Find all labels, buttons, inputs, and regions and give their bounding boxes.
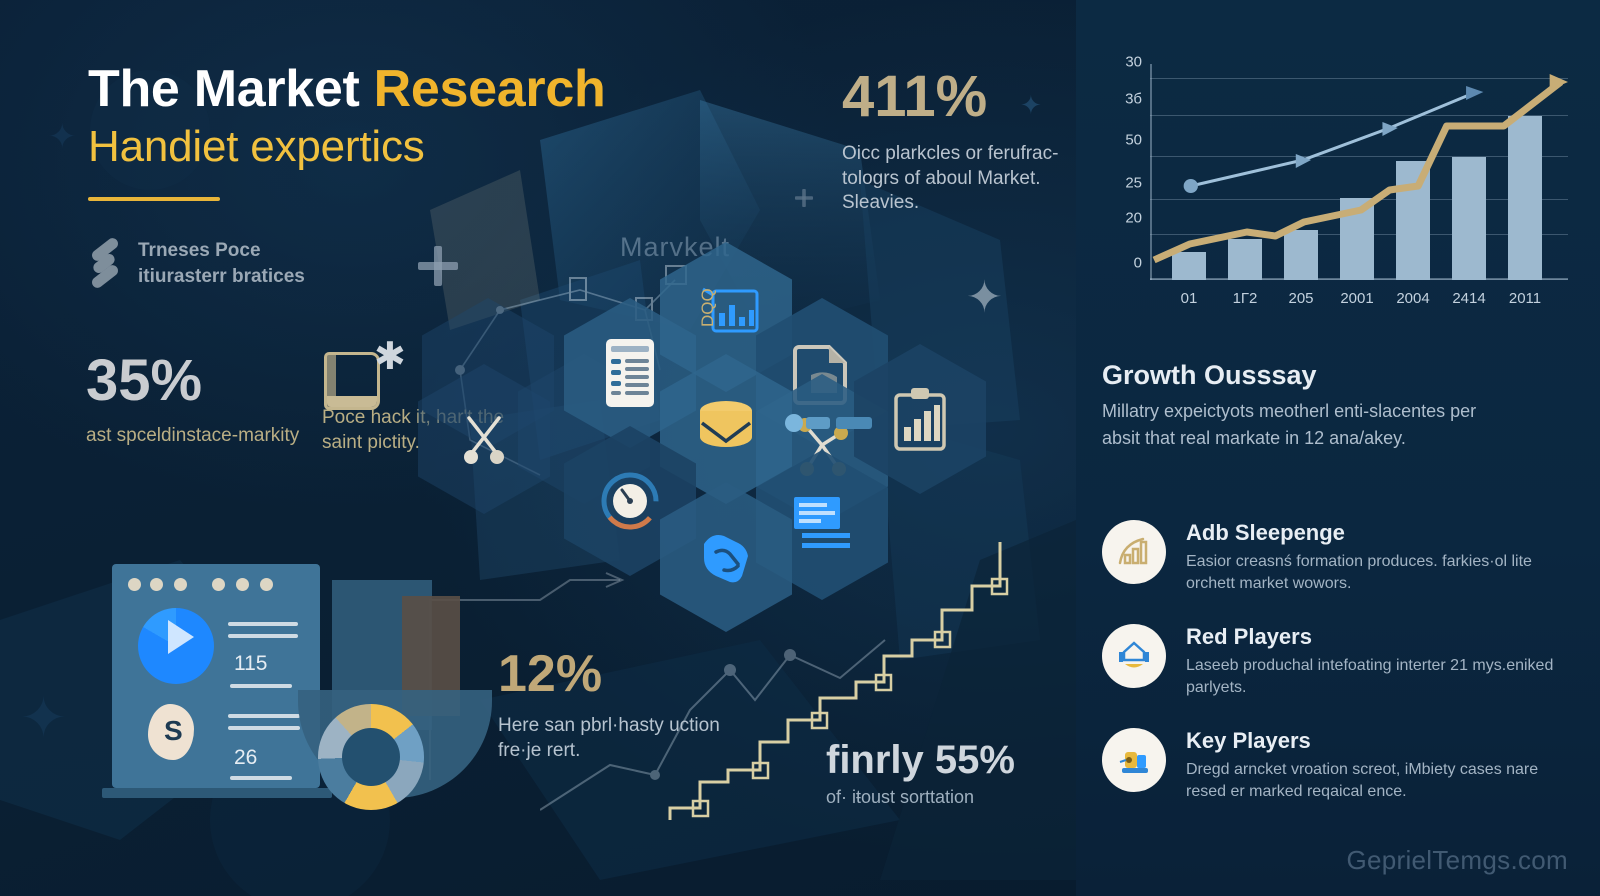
section-title: Growth Ousssay	[1102, 360, 1317, 391]
dashboard-donut-chart	[318, 704, 424, 810]
chart-y-label: 30	[1125, 54, 1142, 71]
chart-x-label: 1Г2	[1233, 290, 1258, 307]
handshake-icon	[694, 526, 758, 588]
stat-block-35: 35% ast spceldinstace-markity	[86, 352, 336, 449]
dashboard-dot	[150, 578, 163, 591]
star-icon: ✦	[20, 690, 67, 746]
stat-block-55: finrly 55% of· iŧoust sorttation	[826, 740, 1076, 809]
page-title-accent: Research	[374, 60, 606, 118]
chart-y-label: 25	[1125, 175, 1142, 192]
database-icon	[692, 397, 760, 461]
chart-plot-area: 0 20 25 50 3б 30	[1150, 64, 1568, 280]
list-item[interactable]: Key Players Dregd arncket vroation screo…	[1102, 728, 1572, 804]
stat-value: 12%	[498, 648, 728, 700]
list-item-body: Laseeb produchal intefoating interter 21…	[1186, 655, 1572, 700]
list-item-title: Red Players	[1186, 624, 1572, 650]
brand-label: Trneses Poce itiurasterr bratices	[138, 238, 305, 289]
play-triangle-icon	[168, 620, 194, 654]
dashboard-card: 115 26 S	[112, 564, 320, 788]
dashboard-blob-letter: S	[164, 715, 183, 747]
dashboard-dot	[236, 578, 249, 591]
stat-block-411: 411% Oicc plarkcles or ferufrac- tologrs…	[842, 68, 1102, 216]
title-divider	[88, 197, 220, 201]
dashboard-shelf	[102, 788, 332, 798]
list-item-title: Key Players	[1186, 728, 1572, 754]
chart-y-label: 0	[1134, 255, 1142, 272]
brand-row: Trneses Poce itiurasterr bratices	[88, 238, 305, 289]
list-item-text: Key Players Dregd arncket vroation screo…	[1186, 728, 1572, 804]
presentation-chart-icon: DQQ	[691, 285, 761, 349]
list-item-text: Adb Sleepenge Easior creasnś formation p…	[1186, 520, 1572, 596]
stat-caption: ast spceldinstace-markity	[86, 424, 336, 449]
dashboard-illustration: 115 26 S	[112, 556, 432, 806]
feature-list: Adb Sleepenge Easior creasnś formation p…	[1102, 520, 1572, 831]
infographic-canvas: ✦ ✦ ✦ ✦ The	[0, 0, 1600, 896]
dashboard-line	[228, 726, 300, 730]
chart-x-label: 205	[1288, 290, 1313, 307]
chart-x-label: 2001	[1340, 290, 1373, 307]
dashboard-line	[228, 634, 298, 638]
balance-scale-icon	[1102, 624, 1166, 688]
stat-value: finrly 55%	[826, 740, 1076, 780]
stat-caption: Oicc plarkcles or ferufrac- tologrs of a…	[842, 142, 1102, 216]
briefcase-target-icon	[1102, 728, 1166, 792]
site-watermark: GeprielTemgs.com	[1346, 845, 1568, 876]
list-item[interactable]: Adb Sleepenge Easior creasnś formation p…	[1102, 520, 1572, 596]
stat-block-12: 12% Here san pbrl·hasty uction fre·je re…	[498, 648, 728, 763]
dashboard-dot	[260, 578, 273, 591]
dashboard-value-bottom: 26	[234, 746, 257, 770]
headline-block: The Market Research Handiet expertics	[88, 62, 808, 201]
chart-x-label: 2011	[1509, 290, 1541, 307]
chart-x-label: 01	[1181, 290, 1198, 307]
list-item[interactable]: Red Players Laseeb produchal intefoating…	[1102, 624, 1572, 700]
hex-cluster: DQQ	[498, 236, 1018, 636]
stat-value: 411%	[842, 68, 1102, 126]
chart-y-label: 3б	[1125, 90, 1142, 107]
page-title-plain: The Market	[88, 60, 374, 118]
page-title: The Market Research	[88, 62, 808, 117]
stat-caption: Here san pbrl·hasty uction fre·je rert.	[498, 714, 728, 763]
chart-x-label: 2414	[1452, 290, 1485, 307]
dashboard-line	[228, 622, 298, 626]
chart-y-label: 20	[1125, 209, 1142, 226]
chart-trend-lines	[1150, 64, 1568, 280]
stat-value: 35%	[86, 352, 336, 410]
dashboard-dot	[212, 578, 225, 591]
stat-caption: of· iŧoust sorttation	[826, 786, 1076, 809]
clipboard-bar-chart-icon	[891, 385, 949, 453]
list-item-title: Adb Sleepenge	[1186, 520, 1572, 546]
speedometer-icon	[598, 469, 662, 533]
dashboard-line	[230, 776, 292, 780]
dashboard-line	[230, 684, 292, 688]
growth-chart-icon	[1102, 520, 1166, 584]
dashboard-line	[228, 714, 300, 718]
brand-logo-icon	[88, 242, 124, 286]
list-item-body: Easior creasnś formation produces. farki…	[1186, 551, 1572, 596]
section-body: Millatry expeictyots meotherl enti-slace…	[1102, 398, 1502, 452]
scissors-icon	[457, 412, 511, 466]
star-icon: ✦	[48, 120, 77, 154]
dashboard-dot	[128, 578, 141, 591]
list-item-body: Dregd arncket vroation screot, iMbiety c…	[1186, 759, 1572, 804]
svg-text:DQQ: DQQ	[698, 288, 717, 327]
dashboard-blob: S	[148, 704, 194, 760]
dashboard-dot	[174, 578, 187, 591]
right-panel: 0 20 25 50 3б 30	[1076, 0, 1600, 896]
page-subtitle: Handiet expertics	[88, 123, 808, 171]
chart-x-label: 2004	[1396, 290, 1429, 307]
growth-chart: 0 20 25 50 3б 30	[1102, 56, 1572, 322]
server-rack-icon	[602, 337, 658, 409]
list-item-text: Red Players Laseeb produchal intefoating…	[1186, 624, 1572, 700]
document-lines-icon	[790, 495, 854, 555]
dashboard-value-top: 115	[234, 652, 267, 676]
chart-y-label: 50	[1125, 131, 1142, 148]
